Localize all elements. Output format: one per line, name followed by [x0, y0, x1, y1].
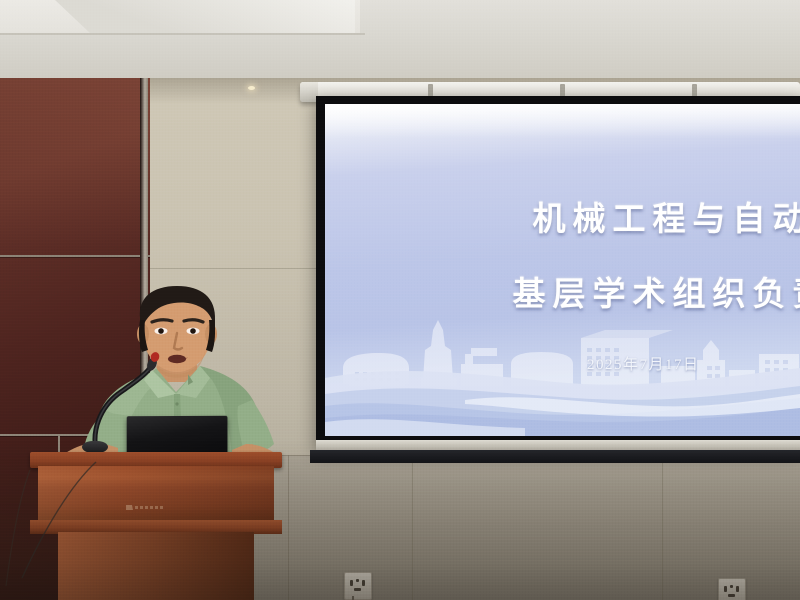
photo-grain	[0, 0, 800, 600]
photo-scene: 机械工程与自动化学院 基层学术组织负责人工作 2025年7月17日	[0, 0, 800, 600]
